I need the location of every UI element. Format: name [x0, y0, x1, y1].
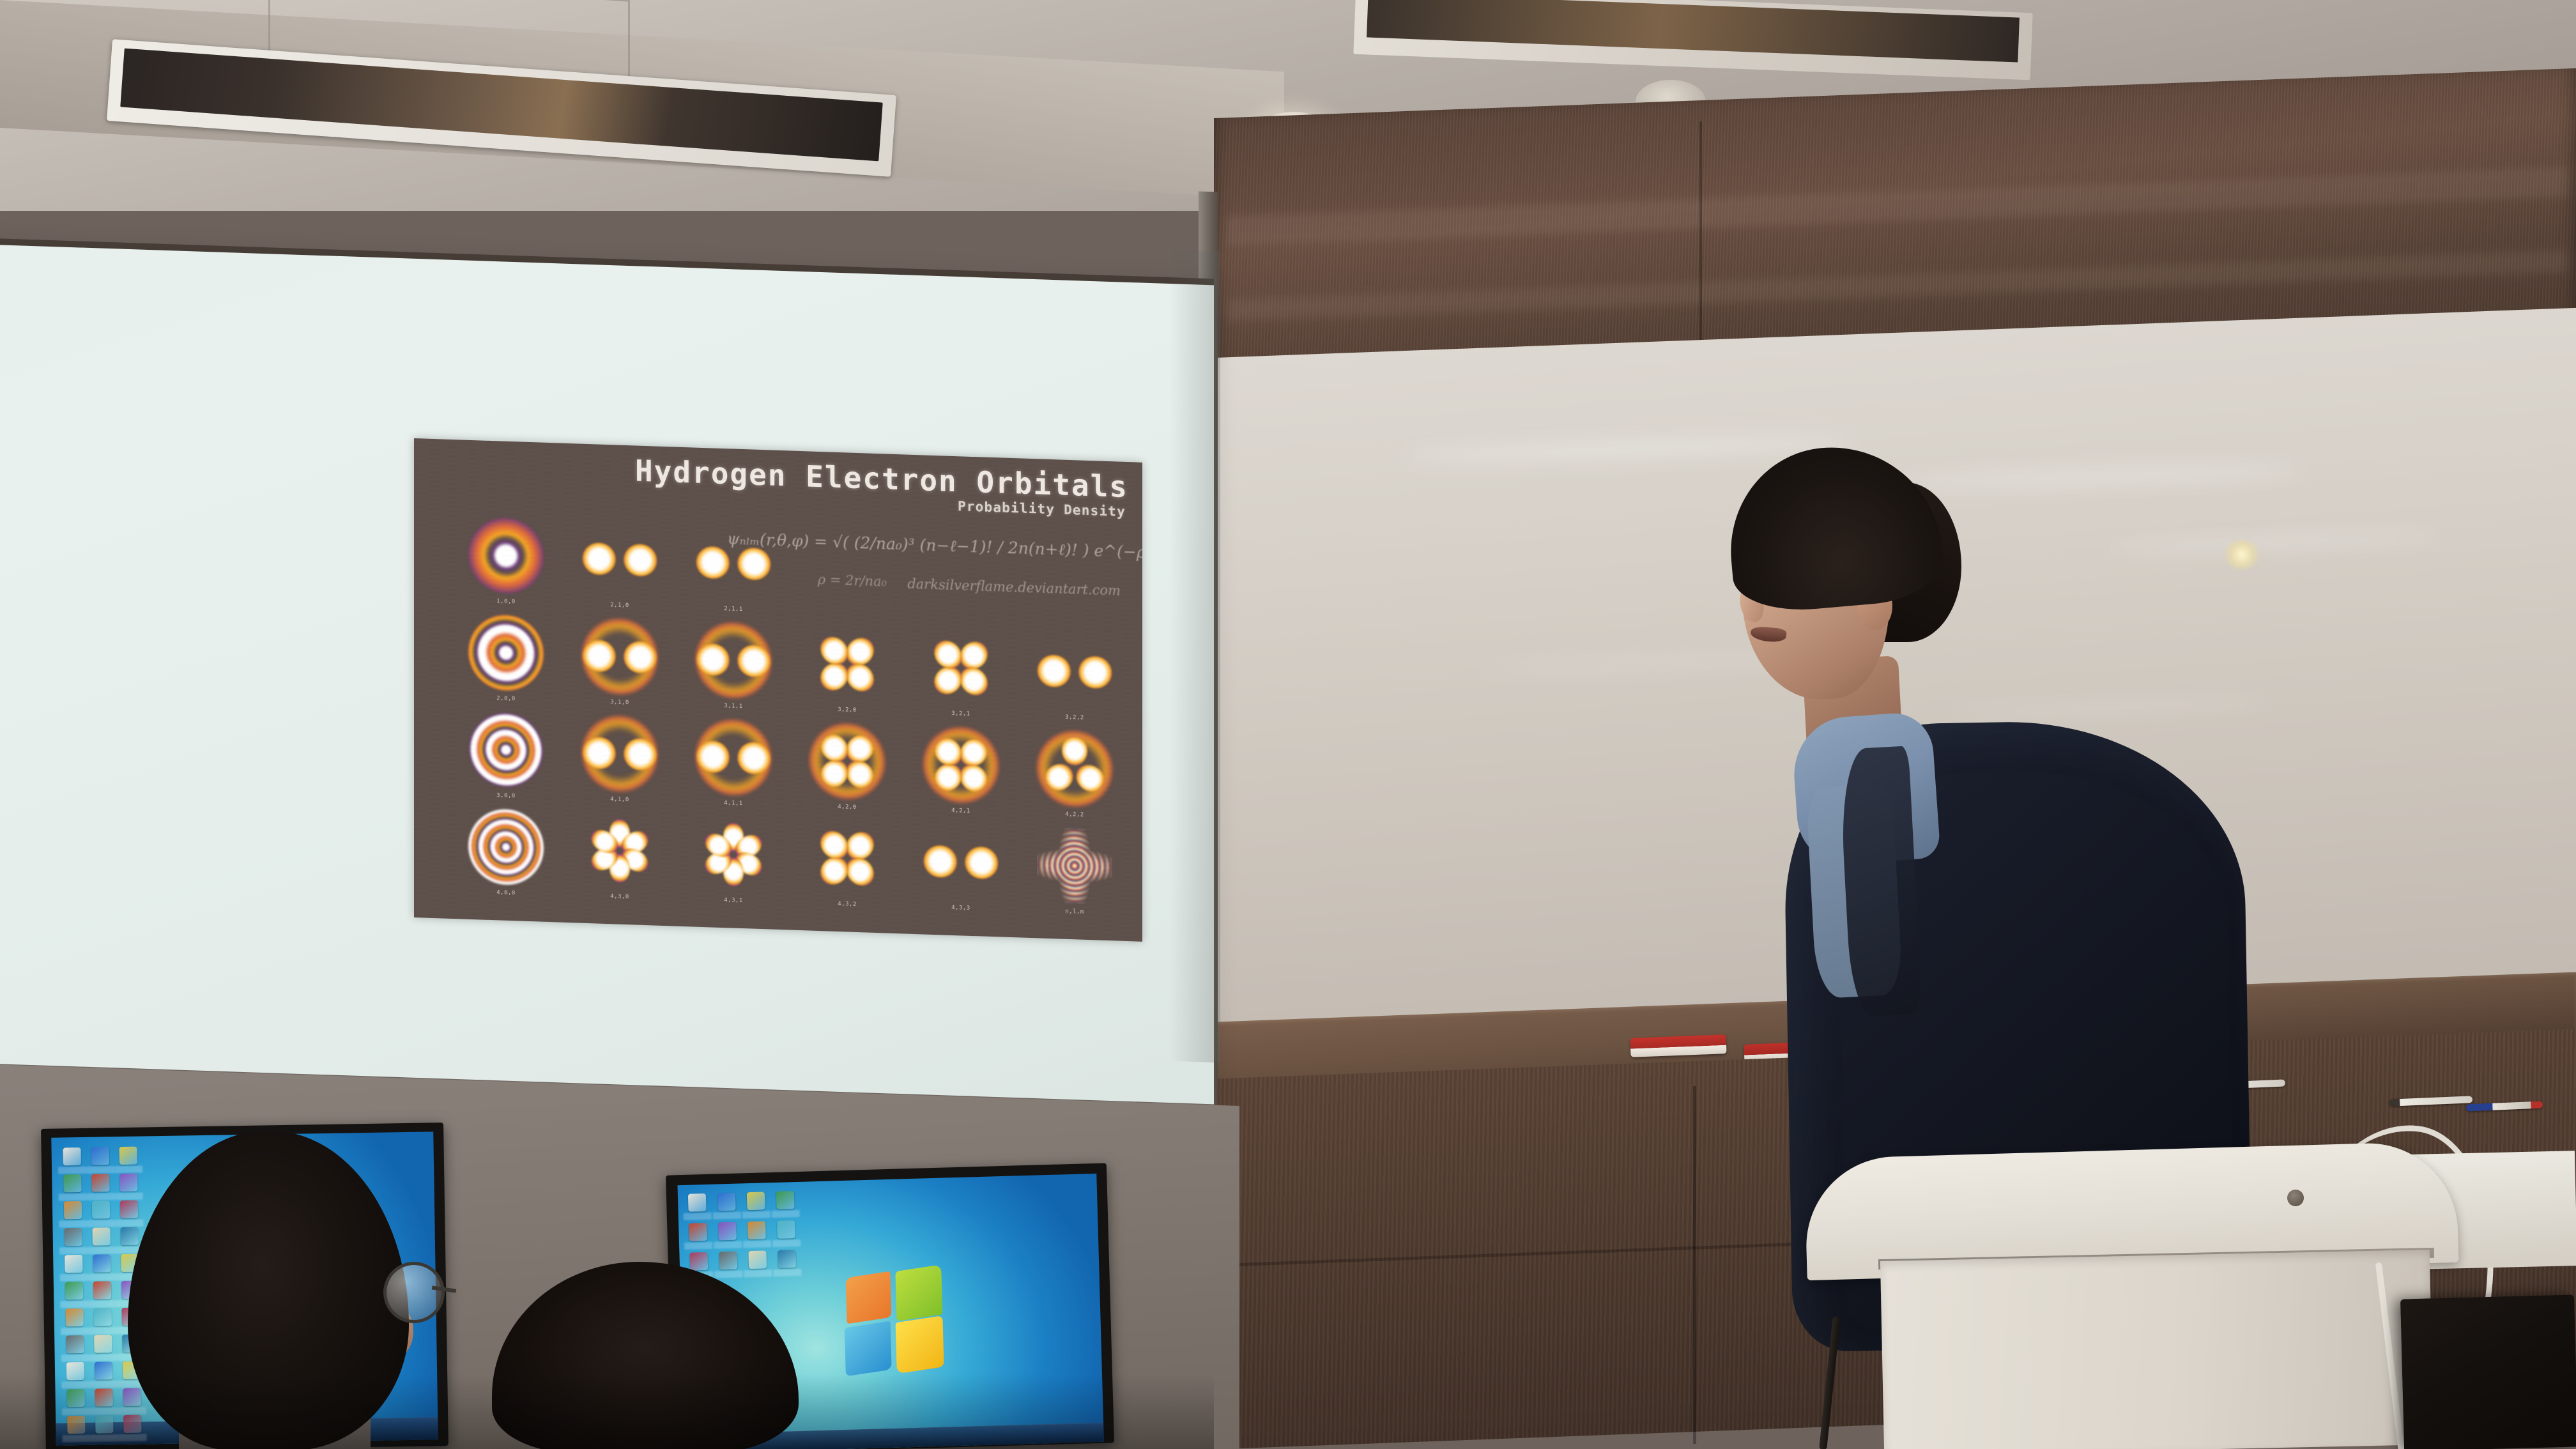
desktop-icon[interactable]: [91, 1147, 109, 1165]
orbital-rings: [468, 711, 544, 789]
orbital-lobe: [583, 737, 616, 770]
orbital-outer-shell: [809, 723, 885, 801]
orbital-label: 3,2,0: [838, 707, 857, 714]
desktop-icon[interactable]: [717, 1193, 736, 1211]
desktop-icon-label: [114, 1165, 142, 1173]
monitor-far-right[interactable]: [2400, 1294, 2576, 1449]
eyeglasses-icon: [383, 1262, 445, 1323]
desktop-icon-label: [59, 1220, 87, 1228]
orbital-rings: [1037, 827, 1112, 905]
orbital-lobe: [1062, 735, 1087, 765]
desktop-icon[interactable]: [92, 1200, 110, 1218]
orbital-lobe: [965, 847, 998, 880]
orbital-outer-shell: [923, 726, 999, 804]
desktop-icon-label: [87, 1193, 115, 1200]
foreground-shadow: [0, 1374, 1214, 1449]
orbital-label: 2,0,0: [496, 695, 516, 702]
desktop-icon-label: [744, 1269, 772, 1277]
orbital-label: 4,3,0: [610, 893, 629, 900]
orbital-cell: 3,2,0: [790, 624, 904, 724]
desktop-icon-label: [86, 1166, 114, 1174]
orbital-label: 4,3,1: [724, 897, 743, 904]
desktop-icon[interactable]: [688, 1193, 707, 1212]
desktop-icon-label: [89, 1354, 118, 1361]
orbital-label: 3,1,1: [724, 703, 743, 710]
desktop-icon[interactable]: [689, 1223, 707, 1241]
desktop-icon-label: [61, 1328, 89, 1335]
orbital-cell: 4,3,0: [563, 810, 677, 911]
desktop-icon[interactable]: [65, 1308, 83, 1326]
orbital-label: 4,1,1: [724, 800, 743, 807]
orbital-label: 4,3,3: [951, 905, 970, 912]
desktop-icon[interactable]: [119, 1147, 137, 1165]
orbital-label: 4,3,2: [838, 901, 857, 908]
desktop-icon-label: [743, 1240, 771, 1248]
desktop-icon-label: [713, 1211, 741, 1219]
desktop-icon[interactable]: [778, 1250, 796, 1268]
orbital-cell: 4,0,0: [449, 806, 563, 907]
orbital-label: 1,0,0: [496, 598, 516, 605]
orbital-cell: 1,0,0: [449, 515, 563, 616]
orbital-label: 3,0,0: [496, 792, 516, 799]
desktop-icon[interactable]: [120, 1200, 138, 1218]
desktop-icon-label: [742, 1211, 770, 1218]
desktop-icon-label: [89, 1327, 117, 1335]
desktop-icon[interactable]: [63, 1174, 81, 1192]
orbital-label: 2,1,1: [724, 606, 743, 613]
orbital-lobe: [815, 631, 854, 670]
orbital-rings: [468, 614, 544, 692]
desktop-icon-label: [61, 1354, 89, 1362]
desktop-icon[interactable]: [91, 1174, 109, 1192]
desktop-icon-label: [88, 1273, 116, 1281]
orbital-cell: 4,2,2: [1018, 728, 1131, 829]
desktop-icon[interactable]: [689, 1252, 708, 1271]
orbital-lobe: [815, 825, 854, 864]
podium-knob[interactable]: [2287, 1190, 2304, 1206]
desktop-icon-label: [772, 1239, 801, 1247]
desktop-icon-label: [88, 1300, 116, 1308]
orbital-label: 4,2,2: [1065, 811, 1084, 818]
orbital-cell: 3,1,0: [563, 616, 677, 717]
orbital-cell: 4,3,2: [790, 818, 904, 919]
desktop-icon[interactable]: [93, 1254, 111, 1272]
orbital-label: 4,2,1: [951, 808, 970, 815]
desktop-icon-label: [714, 1241, 742, 1248]
desktop-icon[interactable]: [718, 1222, 737, 1241]
orbital-cell: 3,1,1: [677, 620, 790, 721]
orbital-lobe: [624, 738, 657, 771]
desktop-icon-label: [88, 1246, 116, 1254]
desktop-icon[interactable]: [65, 1255, 82, 1273]
desktop-icon-label: [60, 1274, 88, 1282]
orbital-lobe: [1038, 654, 1071, 687]
orbital-lobe: [928, 635, 967, 674]
presenter-hair: [1722, 438, 1947, 616]
orbital-cell: 3,0,0: [449, 709, 563, 810]
desktop-icon[interactable]: [94, 1335, 112, 1353]
orbital-lobe: [696, 643, 730, 677]
desktop-icon[interactable]: [93, 1281, 111, 1299]
orbital-label: 4,2,0: [838, 804, 857, 811]
lecture-room-photo: 1,0,02,1,02,1,12,0,03,1,03,1,13,2,03,2,1…: [0, 0, 2576, 1449]
orbital-label: 3,2,1: [951, 710, 970, 717]
desktop-icon-label: [684, 1242, 712, 1250]
orbital-lobe: [624, 641, 657, 674]
orbital-cell: 3,2,1: [904, 627, 1018, 728]
desktop-icon-label: [115, 1192, 143, 1200]
desktop-icon[interactable]: [747, 1192, 765, 1210]
desktop-icon[interactable]: [748, 1250, 767, 1269]
orbital-lobe: [737, 548, 770, 581]
orbital-cell: 3,2,2: [1018, 631, 1131, 732]
desktop-icon-label: [59, 1193, 87, 1201]
desktop-icon[interactable]: [776, 1191, 795, 1209]
desktop-icon[interactable]: [65, 1228, 82, 1246]
orbital-lobe: [696, 546, 730, 579]
orbital-lobe: [583, 542, 616, 576]
desktop-icon-label: [115, 1219, 143, 1227]
desktop-icon-label: [60, 1301, 88, 1308]
orbital-cell: 4,3,1: [677, 814, 790, 915]
desktop-icon-label: [59, 1247, 88, 1255]
desktop-icon-label: [684, 1213, 712, 1220]
desktop-icon[interactable]: [66, 1335, 84, 1353]
desktop-icon-label: [714, 1270, 742, 1278]
desktop-icon[interactable]: [93, 1227, 111, 1245]
orbital-lobe: [737, 645, 770, 678]
orbital-cell: 4,2,1: [904, 724, 1018, 825]
desktop-icon[interactable]: [65, 1282, 83, 1299]
orbital-label: n,l,m: [1065, 908, 1084, 916]
windows-logo-icon: [843, 1268, 948, 1379]
orbital-cell: 4,3,3: [904, 821, 1018, 922]
orbital-cell: 2,0,0: [449, 612, 563, 713]
orbital-cell: 4,1,0: [563, 713, 677, 814]
desktop-icon[interactable]: [119, 1174, 137, 1192]
orbital-lobe: [924, 845, 957, 878]
orbital-label: 2,1,0: [610, 602, 629, 609]
desktop-icon-label: [58, 1167, 86, 1174]
orbital-label: 3,2,2: [1065, 714, 1084, 721]
projection-screen-shadow: [1169, 250, 1220, 1063]
desktop-icon[interactable]: [63, 1147, 81, 1165]
orbital-cell: 2,1,0: [563, 519, 677, 620]
orbital-rings: [468, 517, 544, 595]
orbital-lobe: [737, 742, 770, 775]
orbital-cell: 4,2,0: [790, 721, 904, 822]
desktop-icon-label: [772, 1210, 800, 1218]
podium-body: [1880, 1250, 2434, 1449]
desktop-icon-label: [87, 1220, 115, 1227]
orbital-lobe: [624, 544, 657, 577]
orbital-cell: n,l,m: [1018, 825, 1131, 926]
desktop-icon[interactable]: [777, 1220, 795, 1239]
orbital-lobe: [696, 740, 730, 774]
desktop-icon-label: [773, 1269, 801, 1276]
orbital-lobe: [583, 640, 616, 673]
orbital-cell: 4,1,1: [677, 717, 790, 818]
desktop-icon[interactable]: [719, 1252, 737, 1270]
slide-rho-note: ρ = 2r/na₀: [818, 572, 887, 590]
orbital-lobe: [1078, 656, 1112, 689]
desktop-icon[interactable]: [747, 1221, 766, 1239]
desktop-icon[interactable]: [64, 1201, 82, 1219]
orbital-label: 4,1,0: [610, 796, 629, 803]
orbital-label: 4,0,0: [496, 889, 516, 896]
projected-slide[interactable]: 1,0,02,1,02,1,12,0,03,1,03,1,13,2,03,2,1…: [414, 438, 1142, 942]
orbital-rings: [468, 808, 544, 886]
desktop-icon[interactable]: [121, 1227, 139, 1245]
orbital-label: 3,1,0: [610, 699, 629, 706]
desktop-icon[interactable]: [93, 1308, 111, 1326]
